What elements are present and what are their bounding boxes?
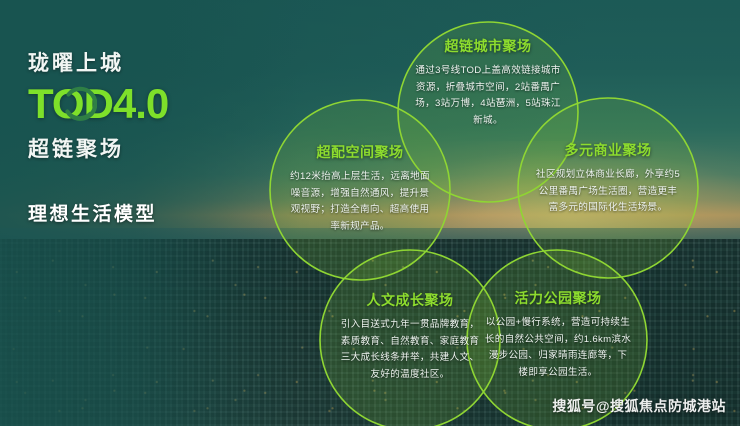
bubble-body: 通过3号线TOD上盖高效链接城市资源，折叠城市空间，2站番禺广场，3站万博，4站… [400,63,576,129]
headline-block: 珑曜上城 TOD4.0 超链聚场 理想生活模型 [28,52,278,226]
bubble-title: 多元商业聚场 [520,140,696,160]
bubble-title: 活力公园聚场 [470,288,646,308]
brand-name: 珑曜上城 [28,52,278,75]
venn-bubble-left: 超配空间聚场 约12米抬高上层生活，远离地面噪音源，增强自然通风，提升景观视野；… [272,142,448,235]
brand-subtitle: 超链聚场 [28,133,278,163]
venn-bubble-bottom-right: 活力公园聚场 以公园+慢行系统，营造可持续生长的自然公共空间，约1.6km滨水漫… [470,288,646,381]
tagline: 理想生活模型 [28,199,278,226]
bubble-title: 超链城市聚场 [400,36,576,56]
logo-lockup: TOD4.0 [28,81,278,127]
watermark: 搜狐号@搜狐焦点防城港站 [552,396,726,416]
poster-canvas: 珑曜上城 TOD4.0 超链聚场 理想生活模型 超链城市聚场 通过3号线TOD上… [0,0,740,426]
venn-bubble-right: 多元商业聚场 社区规划立体商业长廊，外享约5公里番禺广场生活圈，营造更丰富多元的… [520,140,696,217]
bubble-body: 约12米抬高上层生活，远离地面噪音源，增强自然通风，提升景观视野；打造全南向、超… [272,169,448,235]
logo-wordmark: TOD4.0 [28,81,278,127]
bubble-body: 社区规划立体商业长廊，外享约5公里番禺广场生活圈，营造更丰富多元的国际化生活场景… [520,167,696,217]
bubble-title: 超配空间聚场 [272,142,448,162]
bubble-body: 以公园+慢行系统，营造可持续生长的自然公共空间，约1.6km滨水漫步公园、归家晴… [470,315,646,381]
venn-bubble-top: 超链城市聚场 通过3号线TOD上盖高效链接城市资源，折叠城市空间，2站番禺广场，… [400,36,576,129]
